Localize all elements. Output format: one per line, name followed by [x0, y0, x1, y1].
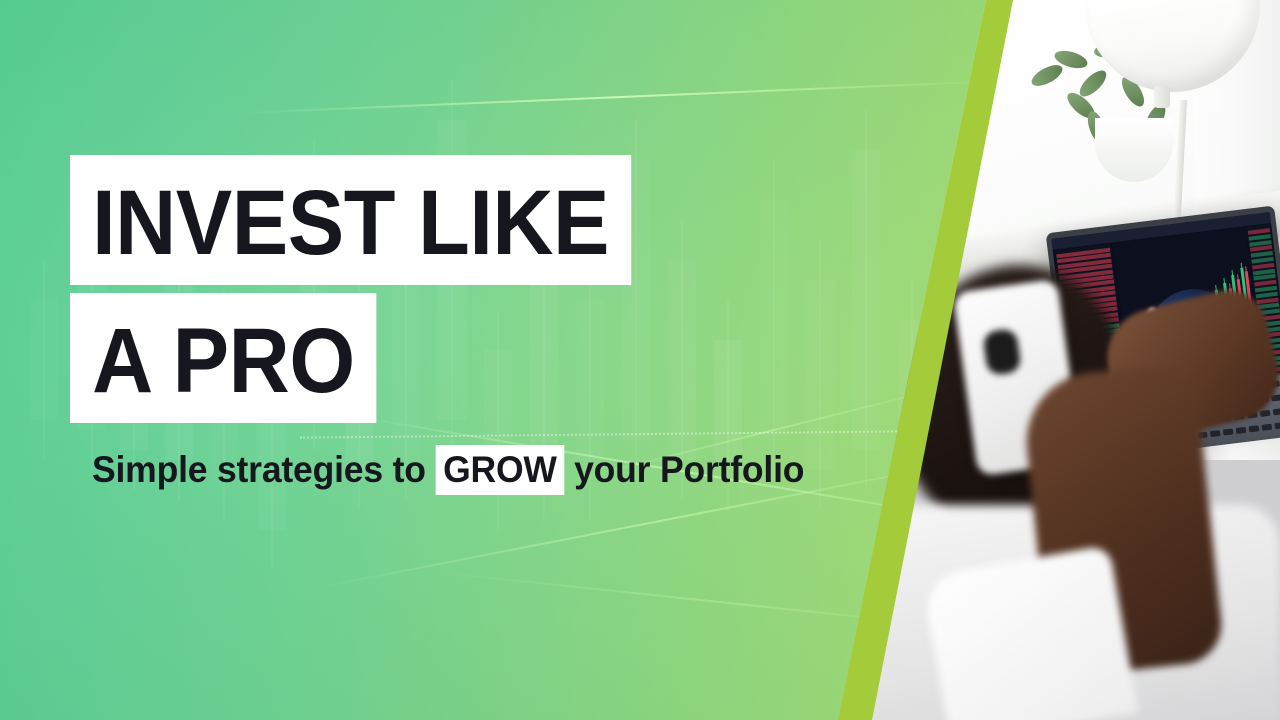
- desk-lamp-joint: [1154, 86, 1170, 108]
- headline-line-1: INVEST LIKE: [70, 155, 631, 285]
- keyboard-key: [1223, 428, 1234, 435]
- page-title: INVEST LIKE A PRO: [70, 155, 680, 423]
- keyboard-key: [1274, 422, 1280, 429]
- subtitle: Simple strategies to GROW your Portfolio: [92, 440, 804, 500]
- keyboard-key: [1260, 410, 1271, 417]
- subtitle-before: Simple strategies to: [92, 449, 435, 490]
- keyboard-key: [1249, 425, 1260, 432]
- invest-like-a-pro-banner: INVEST LIKE A PRO Simple strategies to G…: [0, 0, 1280, 720]
- subtitle-highlight: GROW: [435, 445, 564, 495]
- headline-line-2: A PRO: [70, 293, 377, 423]
- keyboard-key: [1236, 427, 1247, 434]
- keyboard-key: [1262, 424, 1273, 431]
- subtitle-after: your Portfolio: [564, 449, 804, 490]
- keyboard-key: [1273, 408, 1280, 415]
- keyboard-key: [1210, 430, 1221, 437]
